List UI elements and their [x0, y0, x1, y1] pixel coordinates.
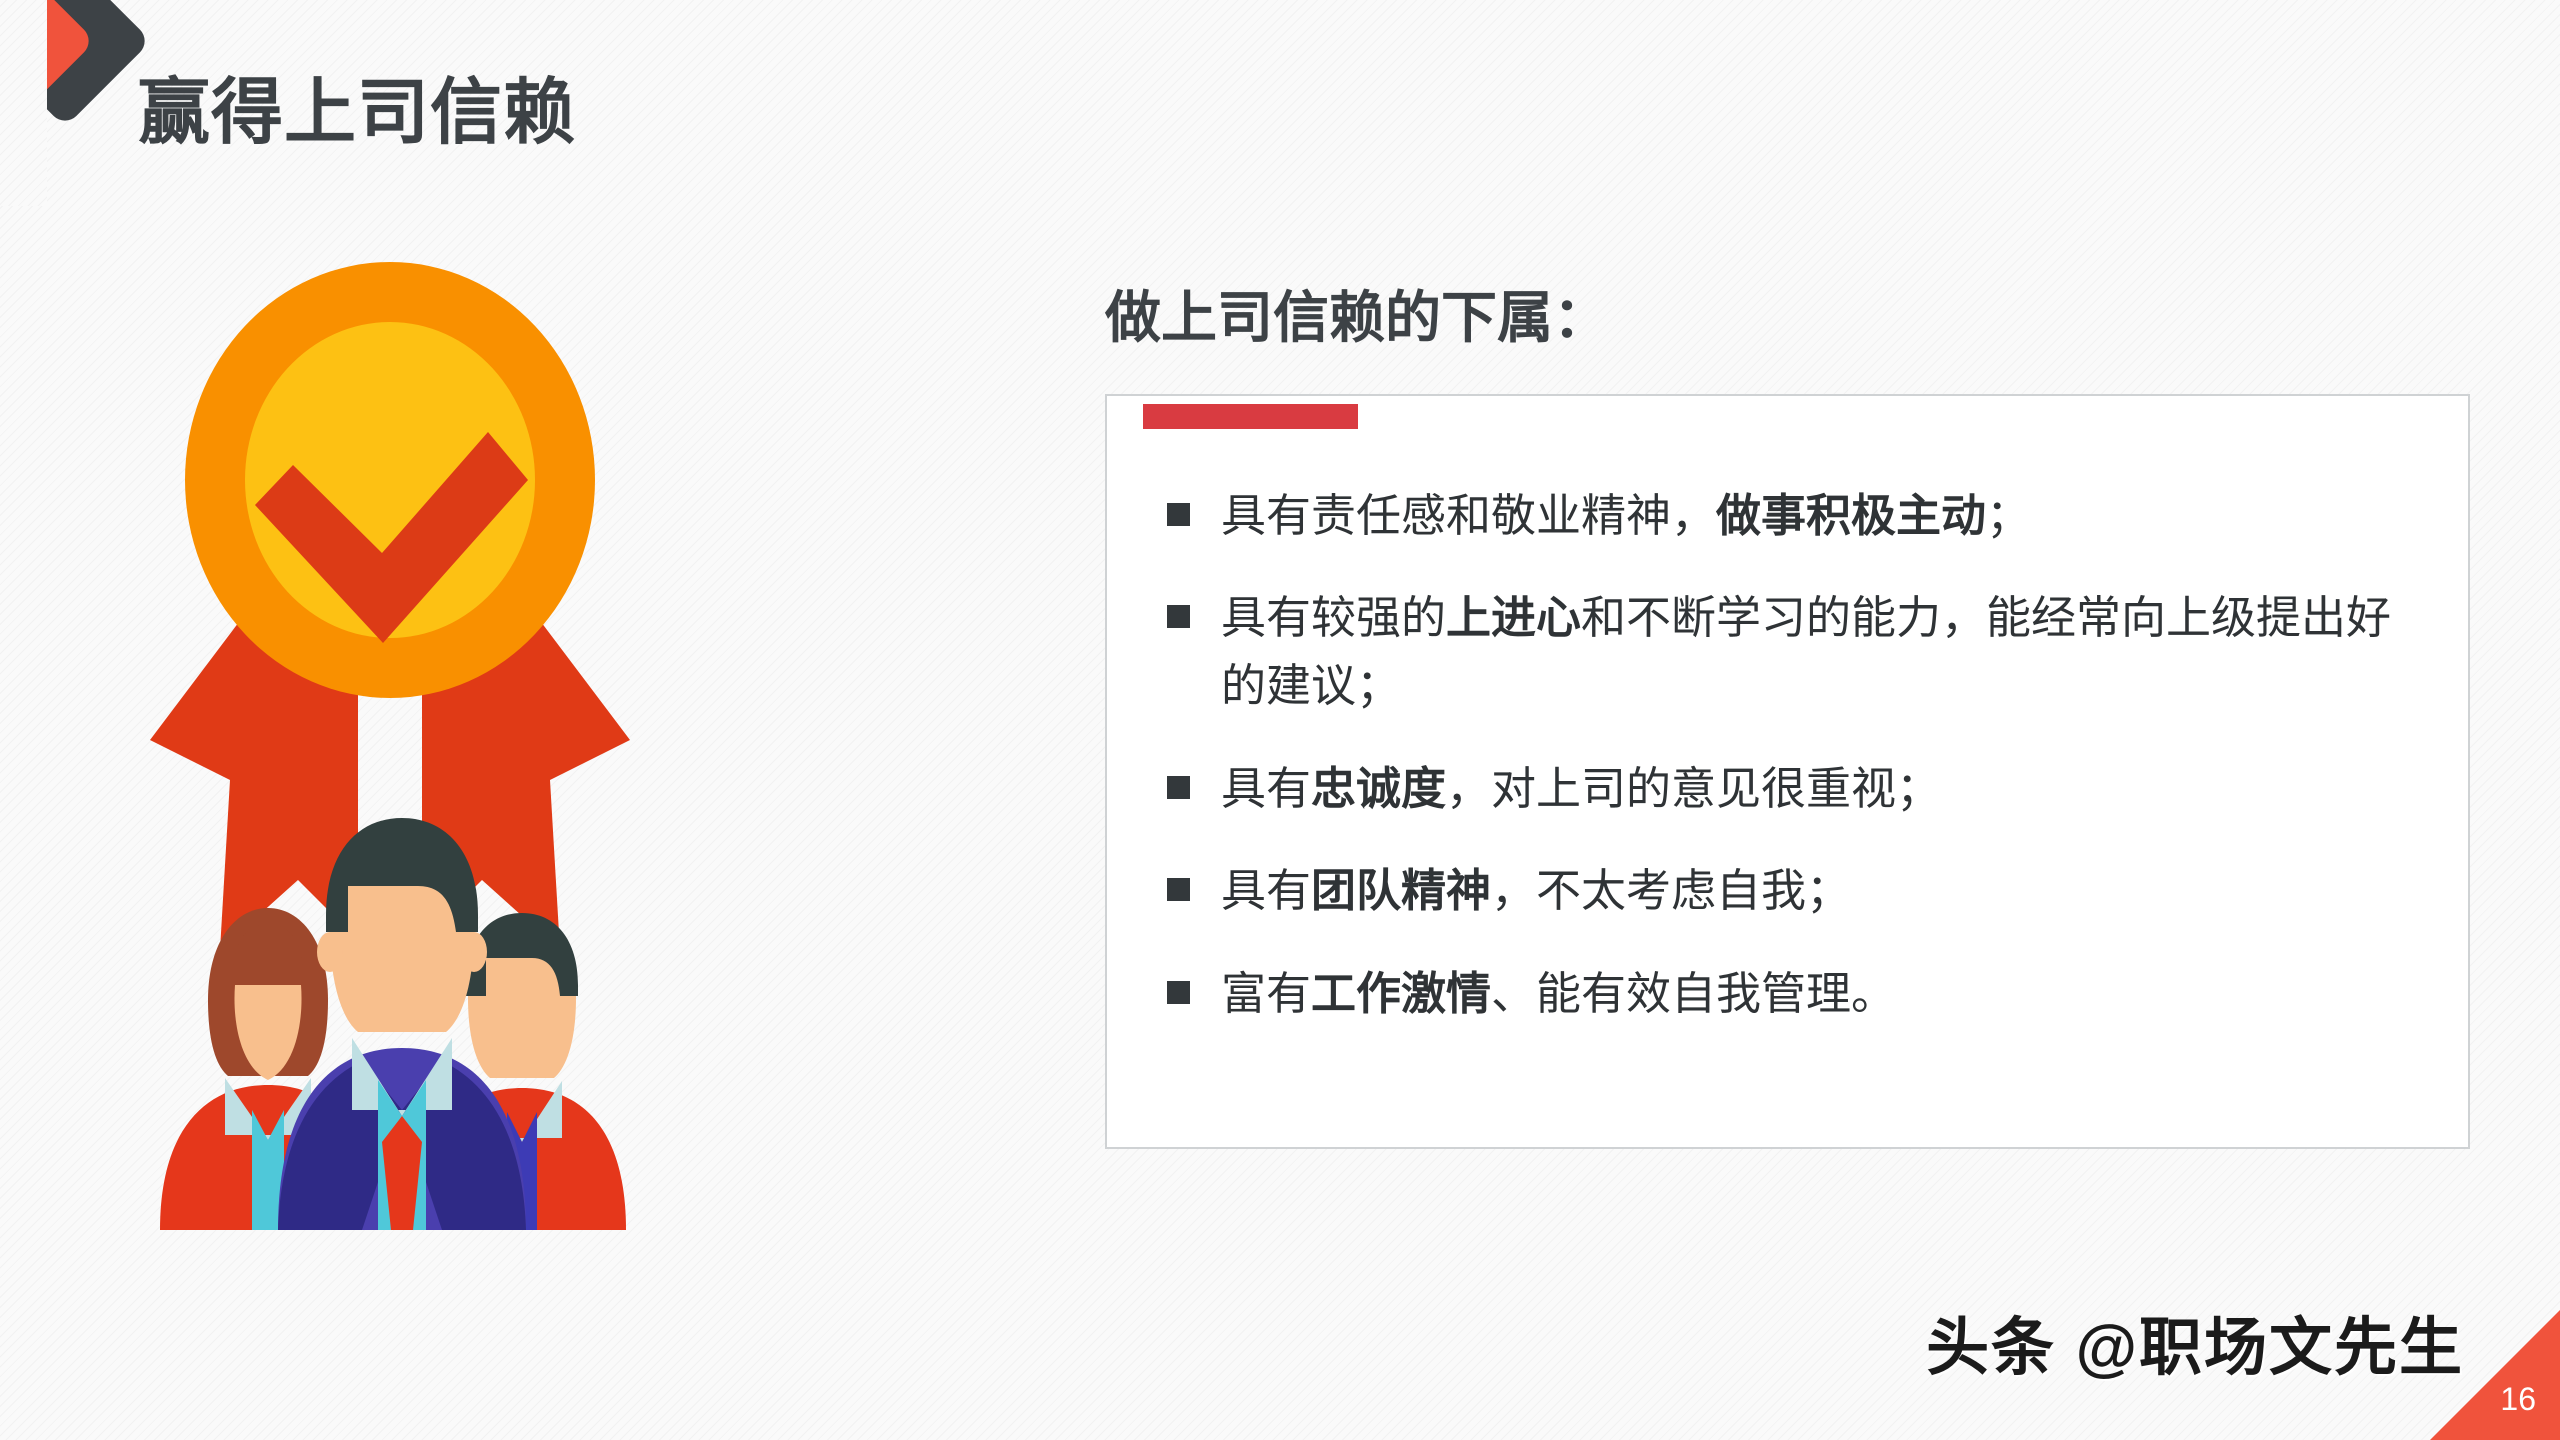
- square-bullet-icon: [1167, 503, 1190, 526]
- content-column: 做上司信赖的下属： 具有责任感和敬业精神，做事积极主动； 具有较强的上进心和不断…: [1105, 280, 2470, 1149]
- list-item-text: 富有工作激情、能有效自我管理。: [1221, 968, 1896, 1019]
- list-item-text: 具有责任感和敬业精神，做事积极主动；: [1221, 490, 2031, 541]
- accent-bar: [1143, 404, 1358, 429]
- list-item-text: 具有较强的上进心和不断学习的能力，能经常向上级提出好的建议；: [1221, 592, 2391, 711]
- corner-triangle-decoration: [2430, 1310, 2560, 1440]
- page-number: 16: [2500, 1381, 2536, 1418]
- award-medal-with-team-illustration: [130, 180, 650, 1230]
- page-title: 赢得上司信赖: [138, 68, 576, 158]
- list-item-text: 具有团队精神，不太考虑自我；: [1221, 865, 1851, 916]
- list-item: 具有较强的上进心和不断学习的能力，能经常向上级提出好的建议；: [1147, 584, 2408, 721]
- list-item: 具有团队精神，不太考虑自我；: [1147, 857, 2408, 925]
- square-bullet-icon: [1167, 605, 1190, 628]
- square-bullet-icon: [1167, 776, 1190, 799]
- section-subheading: 做上司信赖的下属：: [1105, 280, 2470, 356]
- list-item: 具有忠诚度，对上司的意见很重视；: [1147, 755, 2408, 823]
- bullet-content-box: 具有责任感和敬业精神，做事积极主动； 具有较强的上进心和不断学习的能力，能经常向…: [1105, 394, 2470, 1149]
- chevron-mask: [0, 0, 47, 206]
- list-item: 富有工作激情、能有效自我管理。: [1147, 960, 2408, 1028]
- list-item: 具有责任感和敬业精神，做事积极主动；: [1147, 482, 2408, 550]
- list-item-text: 具有忠诚度，对上司的意见很重视；: [1221, 763, 1941, 814]
- square-bullet-icon: [1167, 878, 1190, 901]
- slide-root: 赢得上司信赖: [0, 0, 2560, 1440]
- square-bullet-icon: [1167, 981, 1190, 1004]
- watermark-text: 头条 @职场文先生: [1926, 1297, 2464, 1388]
- bullet-list: 具有责任感和敬业精神，做事积极主动； 具有较强的上进心和不断学习的能力，能经常向…: [1147, 482, 2408, 1028]
